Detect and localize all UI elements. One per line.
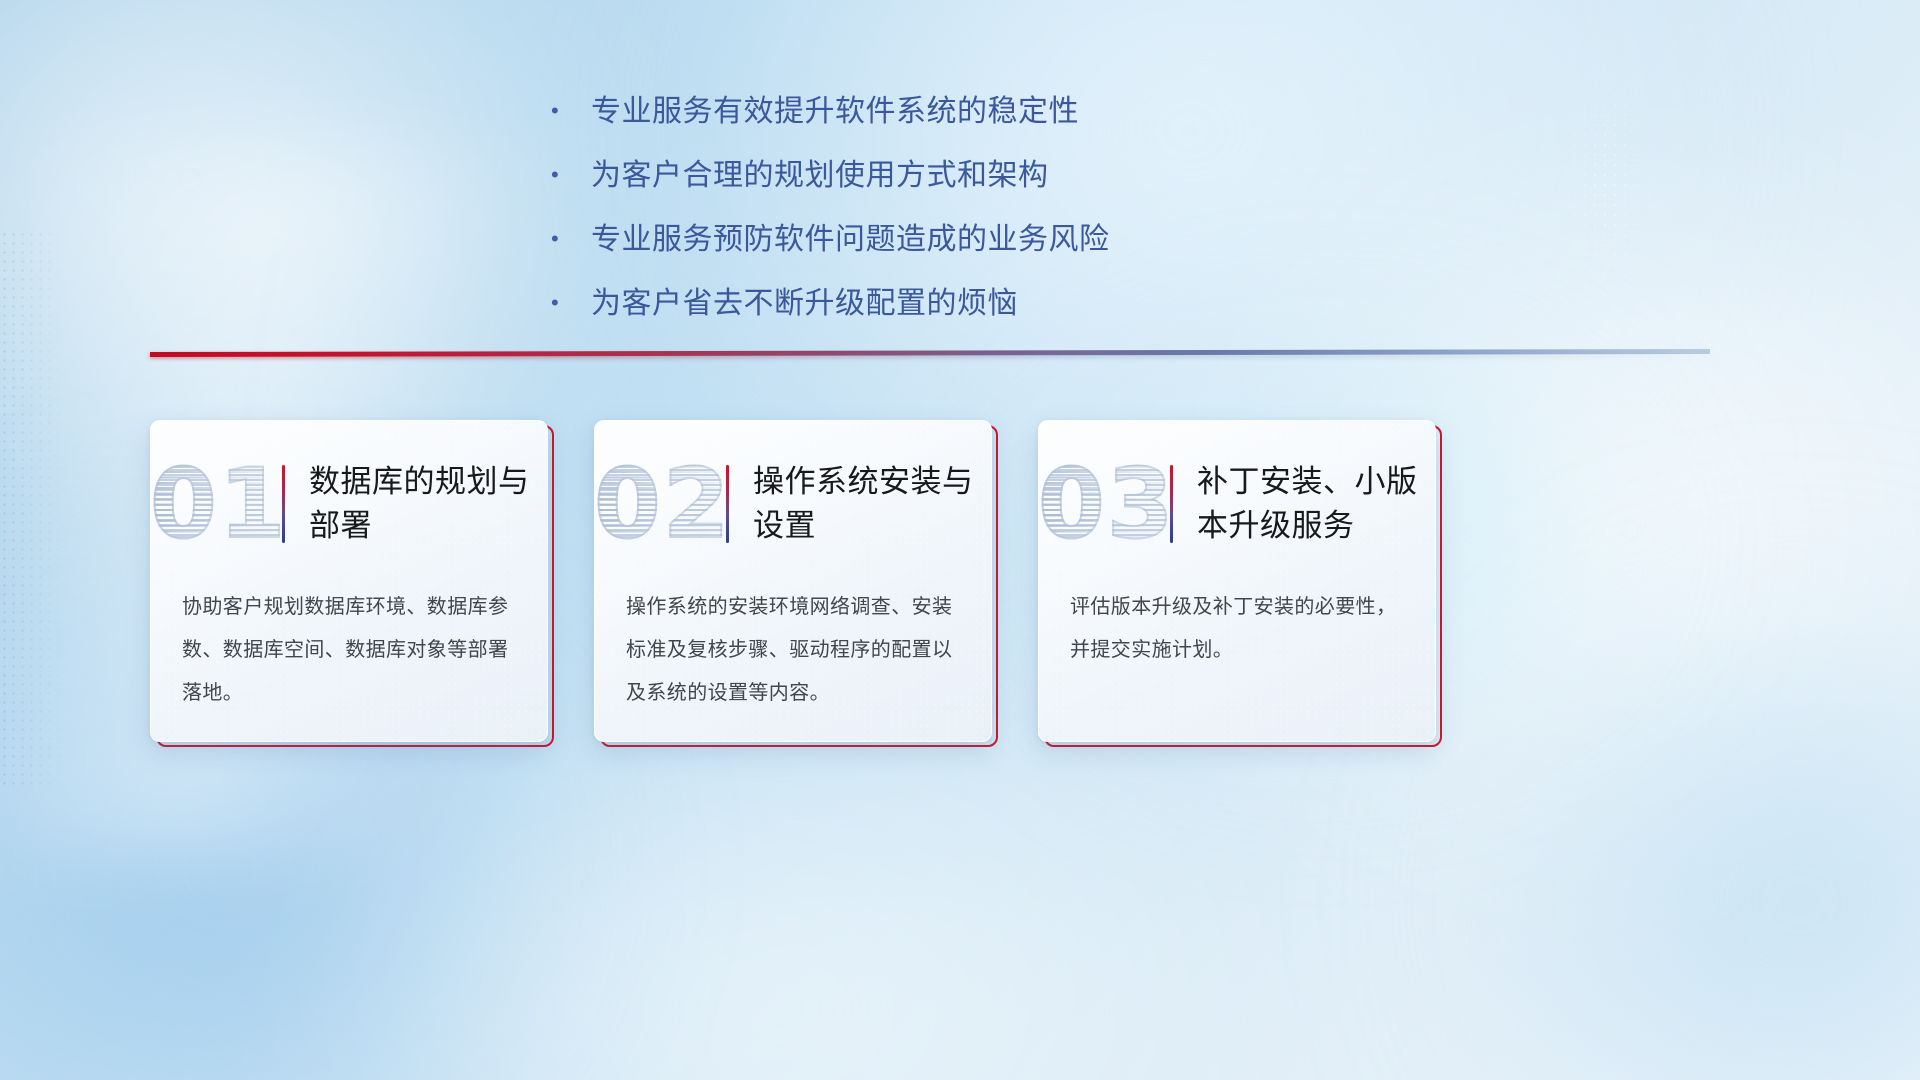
card-header: 0202 操作系统安装与设置 [594, 440, 992, 568]
service-card-01[interactable]: 0101 数据库的规划与部署 协助客户规划数据库环境、数据库参数、数据库空间、数… [150, 420, 548, 742]
service-card-03[interactable]: 0303 补丁安装、小版本升级服务 评估版本升级及补丁安装的必要性，并提交实施计… [1038, 420, 1436, 742]
bullet-item-label: 为客户合理的规划使用方式和架构 [591, 150, 1049, 194]
service-card-02[interactable]: 0202 操作系统安装与设置 操作系统的安装环境网络调查、安装标准及复核步骤、驱… [594, 420, 992, 742]
card-number-stripe-overlay: 01 [150, 444, 282, 564]
background-dot-texture-right [1560, 40, 1650, 340]
section-divider [150, 346, 1710, 362]
bullet-item: • 为客户省去不断升级配置的烦恼 [545, 278, 1305, 342]
bullet-item: • 专业服务预防软件问题造成的业务风险 [545, 214, 1305, 278]
divider-glow [150, 354, 1710, 358]
bullet-dot-icon: • [545, 164, 591, 186]
background-dot-texture-left [0, 230, 70, 790]
bullet-dot-icon: • [545, 292, 591, 314]
card-description: 协助客户规划数据库环境、数据库参数、数据库空间、数据库对象等部署落地。 [182, 586, 522, 715]
bullet-item: • 专业服务有效提升软件系统的稳定性 [545, 86, 1305, 150]
card-header: 0303 补丁安装、小版本升级服务 [1038, 440, 1436, 568]
card-header: 0101 数据库的规划与部署 [150, 440, 548, 568]
card-description: 评估版本升级及补丁安装的必要性，并提交实施计划。 [1070, 586, 1410, 672]
card-number: 0303 [1038, 444, 1170, 564]
card-number: 0101 [150, 444, 282, 564]
card-number-stripe-overlay: 03 [1038, 444, 1170, 564]
card-description: 操作系统的安装环境网络调查、安装标准及复核步骤、驱动程序的配置以及系统的设置等内… [626, 586, 966, 715]
card-title: 补丁安装、小版本升级服务 [1173, 460, 1436, 548]
card-title: 数据库的规划与部署 [285, 460, 548, 548]
benefits-bullet-list: • 专业服务有效提升软件系统的稳定性 • 为客户合理的规划使用方式和架构 • 专… [545, 86, 1305, 342]
bullet-item-label: 专业服务预防软件问题造成的业务风险 [591, 214, 1110, 258]
card-number: 0202 [594, 444, 726, 564]
bullet-item: • 为客户合理的规划使用方式和架构 [545, 150, 1305, 214]
bullet-dot-icon: • [545, 228, 591, 250]
card-title: 操作系统安装与设置 [729, 460, 992, 548]
bullet-item-label: 专业服务有效提升软件系统的稳定性 [591, 86, 1079, 130]
card-number-stripe-overlay: 02 [594, 444, 726, 564]
bullet-dot-icon: • [545, 100, 591, 122]
bullet-item-label: 为客户省去不断升级配置的烦恼 [591, 278, 1018, 322]
service-card-group: 0101 数据库的规划与部署 协助客户规划数据库环境、数据库参数、数据库空间、数… [150, 420, 1770, 744]
